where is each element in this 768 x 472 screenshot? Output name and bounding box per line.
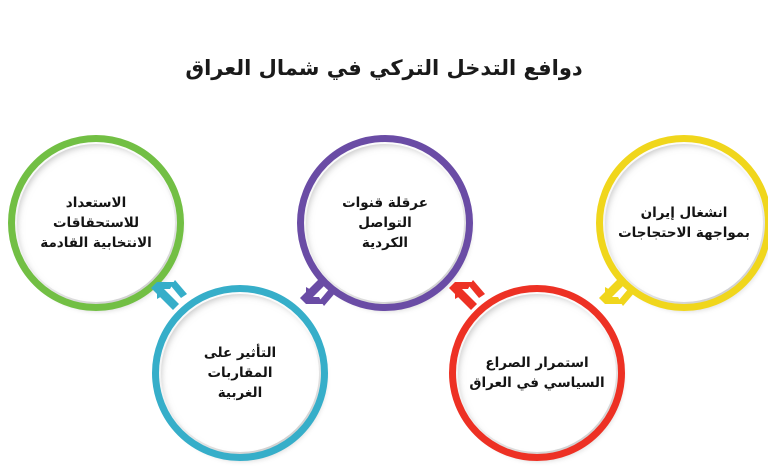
- arrow-connector-purple-to-teal: [292, 262, 348, 318]
- page-title: دوافع التدخل التركي في شمال العراق: [0, 56, 768, 81]
- arrow-connector-teal-to-green: [143, 268, 199, 324]
- arrow-connector-yellow-to-red: [591, 262, 647, 318]
- arrow-connector-red-to-purple: [441, 268, 497, 324]
- infographic-canvas: دوافع التدخل التركي في شمال العراق الاست…: [0, 0, 768, 472]
